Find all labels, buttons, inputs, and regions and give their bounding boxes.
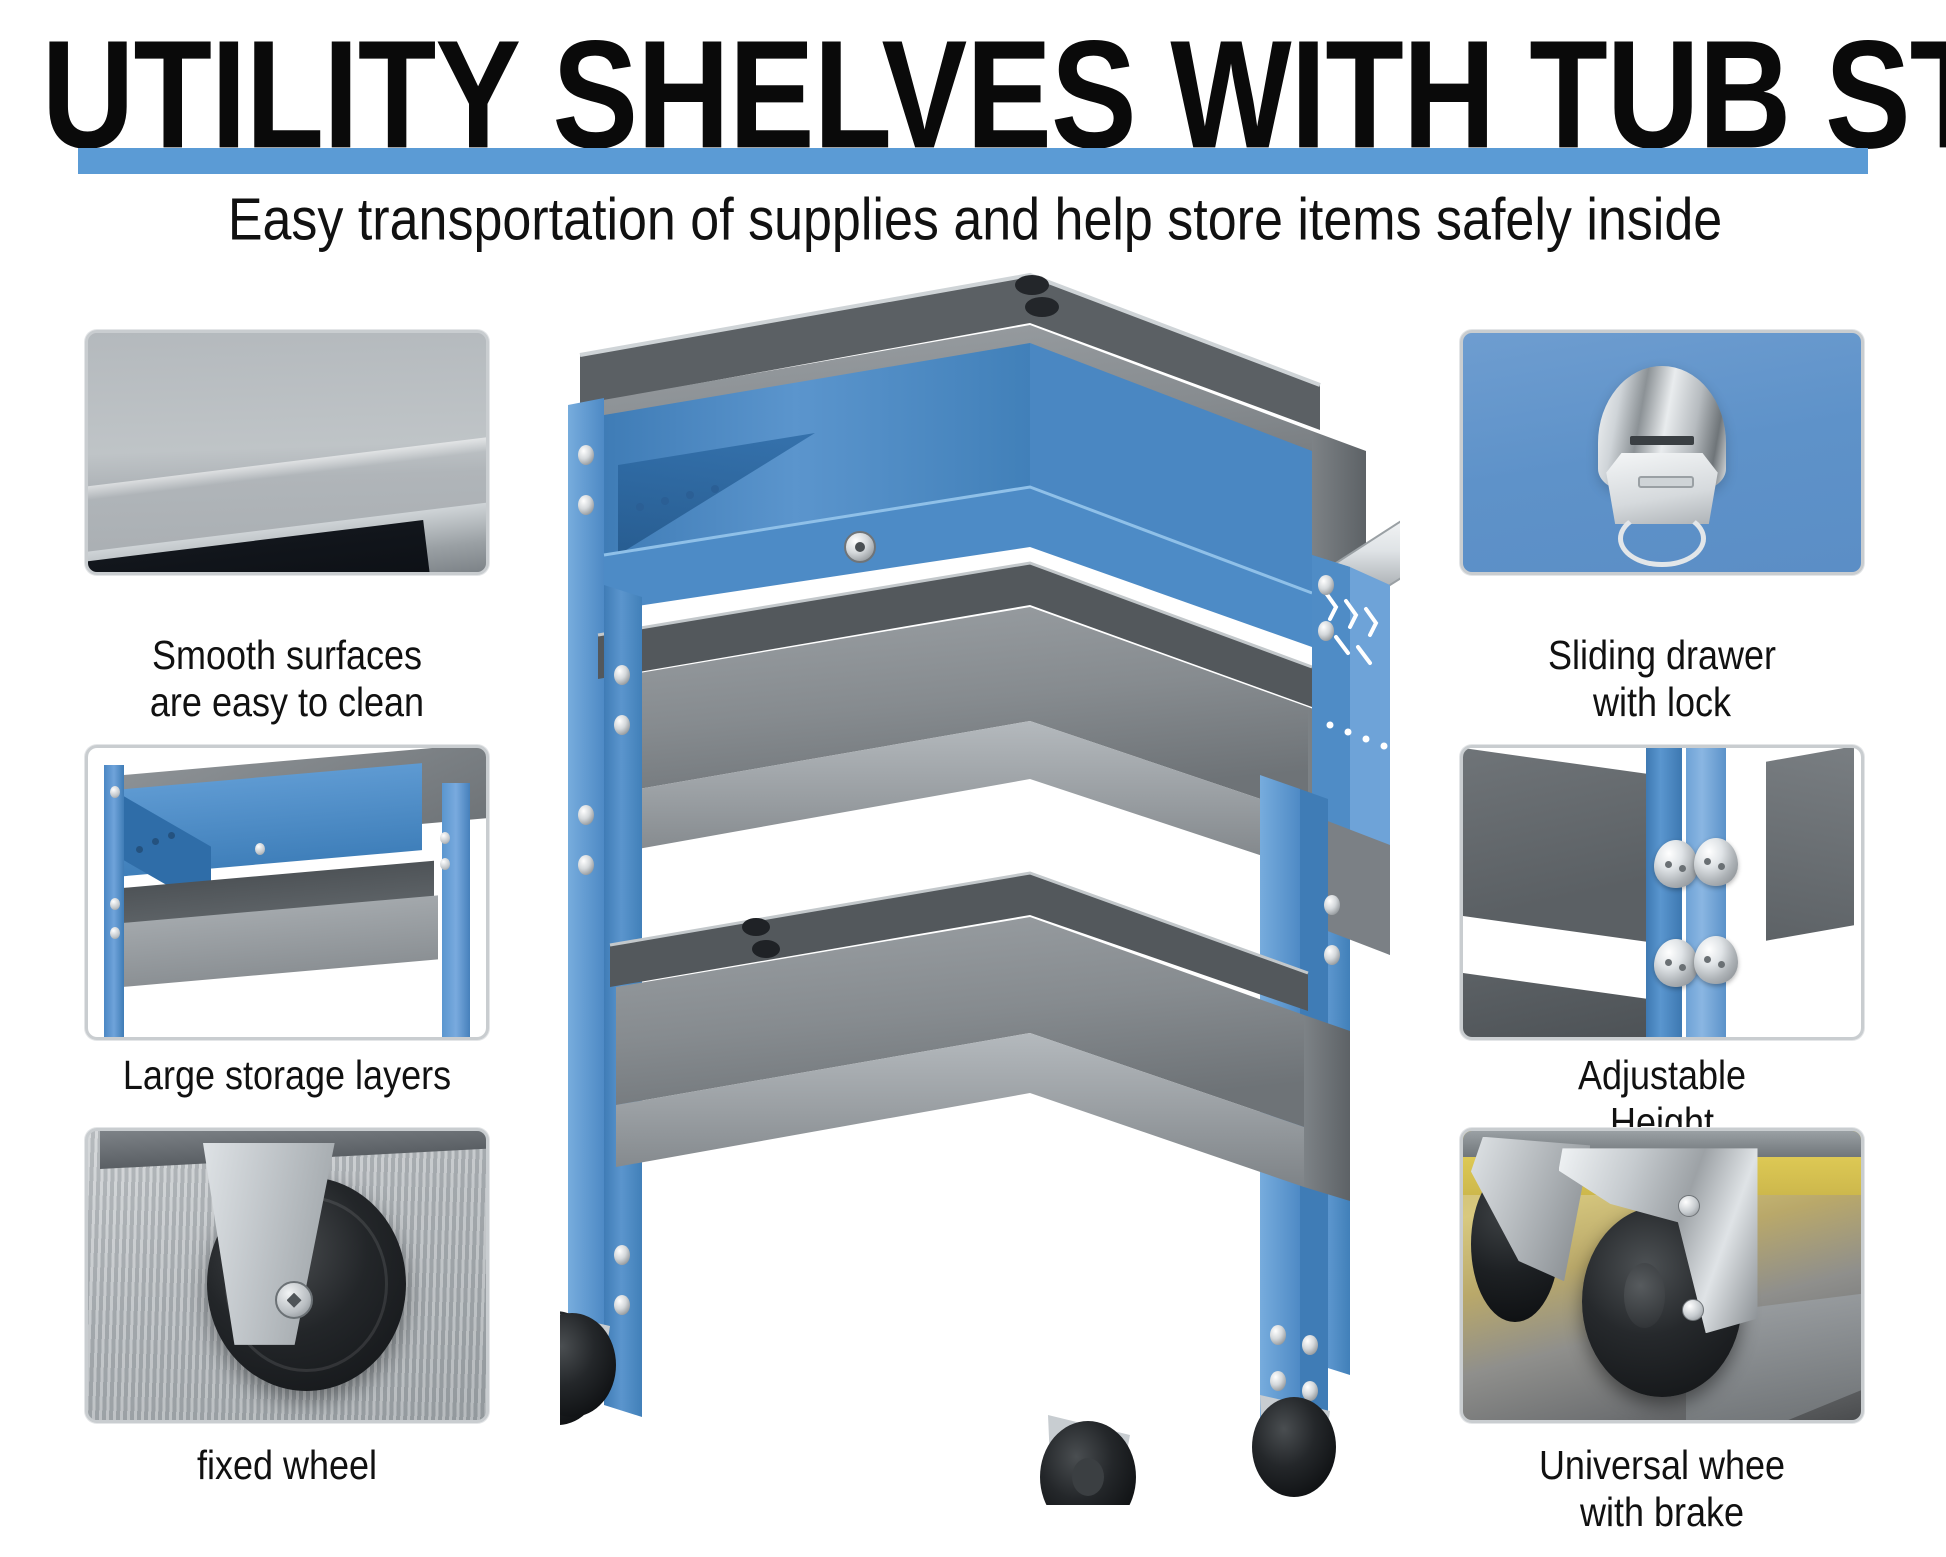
storage-hole [136, 846, 143, 853]
caption-sliding-drawer-lock: Sliding drawer with lock [1440, 632, 1884, 727]
adjustable-bolt-icon [1694, 936, 1738, 984]
rivet [1324, 945, 1340, 965]
drawer-hole [661, 497, 669, 505]
rivet [614, 715, 630, 735]
bottom-tray-right-wall [1304, 1015, 1350, 1201]
feature-panel-large-storage-layers [85, 745, 489, 1040]
storage-right-post [442, 783, 470, 1037]
page-subtitle: Easy transportation of supplies and help… [60, 186, 1890, 254]
caption-fixed-wheel: fixed wheel [65, 1442, 509, 1490]
feature-panel-smooth-surfaces [85, 330, 489, 575]
side-panel-hole [1327, 722, 1334, 729]
cart-wheels [560, 1310, 1336, 1505]
adjustable-post-back [1686, 748, 1726, 1037]
universal-wheel-image [1463, 1131, 1861, 1420]
title-accent-bar [78, 148, 1868, 174]
fixed-wheel-image [88, 1131, 486, 1420]
drawer-lock-image [1463, 333, 1861, 572]
side-panel-hole [1345, 729, 1352, 736]
rivet [1302, 1381, 1318, 1401]
rivet [1270, 1371, 1286, 1391]
feature-panel-fixed-wheel [85, 1128, 489, 1423]
keyhole [1638, 476, 1694, 488]
storage-hole [168, 832, 175, 839]
caption-large-storage-layers: Large storage layers [65, 1052, 509, 1100]
rivet [578, 805, 594, 825]
feature-panel-sliding-drawer-lock [1460, 330, 1864, 575]
smooth-surface-image [88, 333, 486, 572]
key-ring-icon [1618, 510, 1706, 567]
caption-smooth-surfaces: Smooth surfaces are easy to clean [65, 632, 509, 727]
storage-rivet [440, 858, 450, 870]
wheel-far-right [1252, 1395, 1336, 1497]
adjustable-height-image [1463, 748, 1861, 1037]
top-tray-hinge [1025, 297, 1059, 317]
cart-post-back-left [568, 398, 604, 1355]
infographic-page: UTILITY SHELVES WITH TUB STYTLE Easy tra… [0, 0, 1946, 1557]
feature-panel-adjustable-height [1460, 745, 1864, 1040]
storage-rivet [110, 786, 120, 798]
side-panel-hole [1381, 743, 1388, 750]
side-panel-hole [1363, 736, 1370, 743]
storage-hole [152, 838, 159, 845]
rivet [578, 445, 594, 465]
rivet [614, 665, 630, 685]
rivet [1324, 895, 1340, 915]
feature-panel-universal-wheel-brake [1460, 1128, 1864, 1423]
storage-rivet [440, 832, 450, 844]
drawer-hole [686, 491, 694, 499]
bottom-tray-hinge [742, 918, 770, 936]
rivet [1270, 1325, 1286, 1345]
caster-bolt-icon [1682, 1299, 1704, 1321]
cart-svg [560, 255, 1400, 1505]
drawer-hole [636, 503, 644, 511]
rivet [578, 855, 594, 875]
top-tray-hinge [1015, 275, 1049, 295]
storage-rivet [110, 927, 120, 939]
adjustable-bolt-icon [1654, 840, 1698, 888]
bottom-tray-hinge [752, 940, 780, 958]
adjustable-right-shelf [1766, 748, 1854, 941]
caption-universal-wheel-brake: Universal whee with brake [1440, 1442, 1884, 1537]
wheel-tire [1252, 1397, 1336, 1497]
rivet [614, 1295, 630, 1315]
storage-layers-image [88, 748, 486, 1037]
wheel-hub [1072, 1458, 1104, 1496]
adjustable-bolt-icon [1694, 838, 1738, 886]
cart-bottom-tray [610, 873, 1350, 1201]
rivet [1318, 621, 1334, 641]
product-illustration-utility-cart [560, 255, 1400, 1505]
rivet [578, 495, 594, 515]
adjustable-post-front [1646, 748, 1682, 1037]
lock-seam [1630, 436, 1694, 446]
rivet [1318, 575, 1334, 595]
adjustable-bolt-icon [1654, 939, 1698, 987]
rivet [1302, 1335, 1318, 1355]
caster-bolt-icon [1678, 1195, 1700, 1217]
drawer-hole [711, 485, 719, 493]
wheel-center-right [1040, 1415, 1136, 1505]
rivet [614, 1245, 630, 1265]
drawer-lock-keyhole [855, 542, 865, 552]
